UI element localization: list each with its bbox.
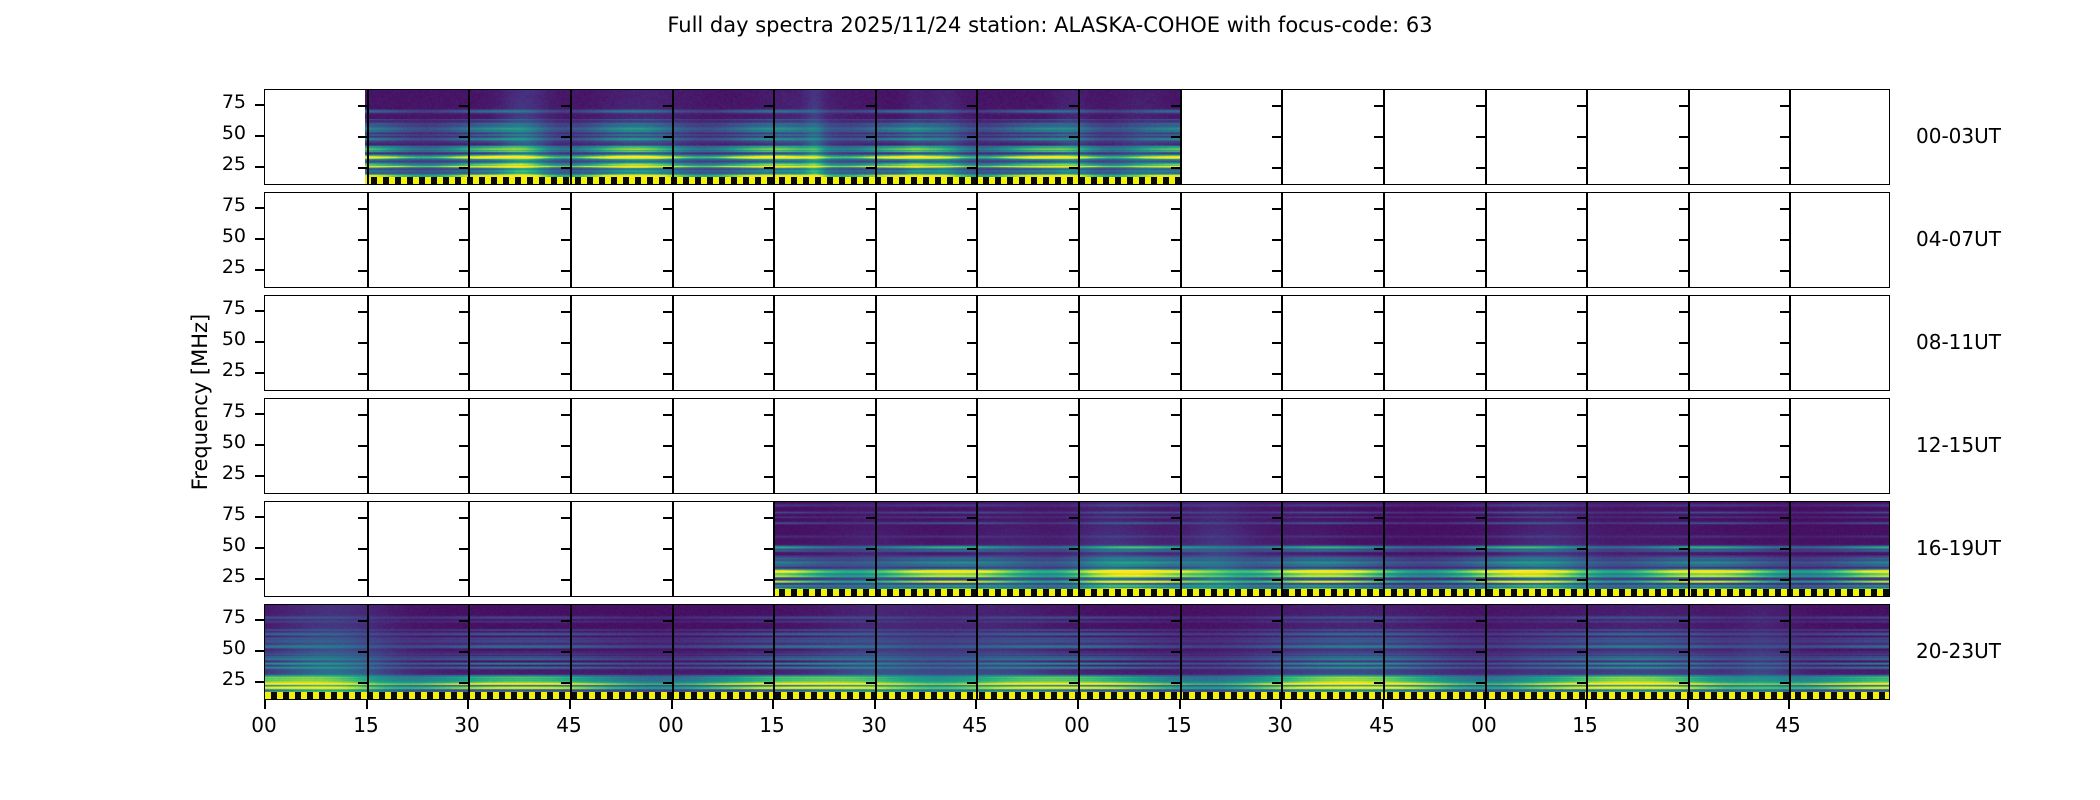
y-tick-mark-inner: [1171, 651, 1180, 653]
panel-separator: [1180, 90, 1182, 184]
spectrogram-row-08-11ut[interactable]: [264, 295, 1890, 391]
y-tick-mark-inner: [866, 682, 875, 684]
y-tick-mark-inner: [459, 105, 468, 107]
panel-separator: [1383, 90, 1385, 184]
figure-title: Full day spectra 2025/11/24 station: ALA…: [0, 13, 2100, 37]
y-tick-mark-inner: [1069, 105, 1078, 107]
y-tick-mark-inner: [1476, 270, 1485, 272]
panel-separator: [1078, 90, 1080, 184]
y-tick-mark-inner: [967, 548, 976, 550]
panel-separator: [1281, 502, 1283, 596]
y-tick-mark-inner: [561, 548, 570, 550]
spectrogram-row-00-03ut[interactable]: [264, 89, 1890, 185]
panel-separator: [1281, 605, 1283, 699]
panel-separator: [875, 502, 877, 596]
y-tick-mark-inner: [1272, 579, 1281, 581]
y-tick-mark-inner: [764, 517, 773, 519]
y-tick-mark-inner: [1780, 342, 1789, 344]
y-tick-mark-inner: [1069, 651, 1078, 653]
y-tick-mark-inner: [663, 476, 672, 478]
coverage-marker: [773, 589, 1890, 596]
y-tick-mark-inner: [663, 311, 672, 313]
y-tick-mark-inner: [764, 208, 773, 210]
y-tick-mark-inner: [1780, 445, 1789, 447]
y-tick-mark-inner: [1272, 476, 1281, 478]
y-tick-mark-inner: [459, 682, 468, 684]
x-tick-mark: [1382, 700, 1384, 709]
y-tick-mark-inner: [1374, 651, 1383, 653]
y-tick-mark-inner: [1272, 445, 1281, 447]
panel-separator: [1281, 399, 1283, 493]
y-tick-mark-inner: [1679, 105, 1688, 107]
row-label-16-19ut: 16-19UT: [1916, 536, 2001, 560]
panel-separator: [1789, 605, 1791, 699]
y-tick-mark-inner: [459, 208, 468, 210]
panel-separator: [1383, 193, 1385, 287]
panel-separator: [1281, 296, 1283, 390]
panel-separator: [1789, 90, 1791, 184]
y-tick-label: 50: [186, 637, 246, 659]
panel-separator: [976, 605, 978, 699]
panel-separator: [570, 399, 572, 493]
y-tick-mark-inner: [459, 579, 468, 581]
y-tick-mark-inner: [358, 136, 367, 138]
y-tick-mark-inner: [561, 476, 570, 478]
y-tick-label: 50: [186, 225, 246, 247]
y-tick-mark-inner: [1780, 476, 1789, 478]
y-tick-mark-inner: [561, 373, 570, 375]
y-tick-mark-inner: [561, 651, 570, 653]
y-tick-mark-inner: [1577, 476, 1586, 478]
y-tick-mark-inner: [1679, 517, 1688, 519]
y-tick-mark-inner: [1577, 445, 1586, 447]
y-tick-mark-inner: [967, 651, 976, 653]
panel-separator: [570, 502, 572, 596]
y-tick-label: 75: [186, 194, 246, 216]
panel-separator: [1078, 605, 1080, 699]
y-tick-mark-inner: [1272, 136, 1281, 138]
panel-separator: [1383, 502, 1385, 596]
panel-separator: [367, 399, 369, 493]
y-tick-mark: [255, 166, 264, 168]
y-tick-mark-inner: [764, 239, 773, 241]
panel-separator: [773, 399, 775, 493]
spectrogram-row-04-07ut[interactable]: [264, 192, 1890, 288]
y-tick-mark-inner: [764, 651, 773, 653]
y-tick-mark-inner: [1476, 651, 1485, 653]
y-tick-mark-inner: [1069, 414, 1078, 416]
y-tick-mark-inner: [358, 620, 367, 622]
y-tick-mark-inner: [1476, 414, 1485, 416]
y-tick-mark-inner: [561, 239, 570, 241]
y-tick-mark-inner: [764, 579, 773, 581]
panel-separator: [367, 296, 369, 390]
y-tick-mark-inner: [1577, 620, 1586, 622]
y-tick-mark-inner: [1171, 476, 1180, 478]
x-tick-mark: [467, 700, 469, 709]
y-tick-mark-inner: [1577, 414, 1586, 416]
panel-separator: [1789, 193, 1791, 287]
y-tick-mark-inner: [1171, 342, 1180, 344]
y-tick-mark-inner: [1069, 342, 1078, 344]
y-tick-mark-inner: [1780, 682, 1789, 684]
y-tick-mark: [255, 475, 264, 477]
panel-separator: [1180, 502, 1182, 596]
y-tick-mark-inner: [1171, 682, 1180, 684]
row-label-12-15ut: 12-15UT: [1916, 433, 2001, 457]
panel-separator: [1789, 399, 1791, 493]
y-tick-mark: [255, 413, 264, 415]
y-tick-mark-inner: [1272, 620, 1281, 622]
y-tick-mark-inner: [663, 239, 672, 241]
y-tick-mark: [255, 135, 264, 137]
y-tick-label: 50: [186, 328, 246, 350]
y-tick-mark-inner: [866, 311, 875, 313]
y-tick-mark-inner: [1679, 270, 1688, 272]
y-tick-mark-inner: [967, 342, 976, 344]
y-tick-mark-inner: [1171, 414, 1180, 416]
x-tick-mark: [1585, 700, 1587, 709]
y-tick-mark-inner: [1780, 651, 1789, 653]
y-tick-mark-inner: [1171, 270, 1180, 272]
y-tick-mark-inner: [967, 270, 976, 272]
panel-separator: [672, 502, 674, 596]
y-tick-mark: [255, 238, 264, 240]
panel-separator: [976, 296, 978, 390]
panel-separator: [468, 296, 470, 390]
y-tick-mark-inner: [967, 476, 976, 478]
panel-separator: [1383, 296, 1385, 390]
y-tick-mark-inner: [866, 105, 875, 107]
y-tick-mark-inner: [1577, 239, 1586, 241]
y-tick-mark-inner: [663, 373, 672, 375]
y-tick-mark-inner: [1679, 682, 1688, 684]
y-tick-mark: [255, 104, 264, 106]
y-tick-mark-inner: [459, 445, 468, 447]
y-tick-mark-inner: [1679, 311, 1688, 313]
y-tick-label: 50: [186, 534, 246, 556]
y-tick-mark-inner: [866, 270, 875, 272]
y-tick-mark-inner: [1069, 517, 1078, 519]
y-tick-label: 25: [186, 462, 246, 484]
y-tick-mark-inner: [764, 414, 773, 416]
y-tick-mark-inner: [1374, 373, 1383, 375]
panel-separator: [1789, 296, 1791, 390]
y-tick-mark-inner: [1476, 136, 1485, 138]
panel-separator: [875, 90, 877, 184]
panel-separator: [875, 605, 877, 699]
y-tick-mark-inner: [1069, 270, 1078, 272]
x-tick-label: 15: [326, 713, 406, 737]
y-tick-mark-inner: [1679, 208, 1688, 210]
y-tick-mark: [255, 547, 264, 549]
y-tick-mark-inner: [459, 239, 468, 241]
y-tick-mark-inner: [967, 105, 976, 107]
y-tick-mark-inner: [1374, 167, 1383, 169]
panel-separator: [1586, 90, 1588, 184]
y-tick-mark-inner: [764, 136, 773, 138]
y-tick-mark-inner: [1577, 682, 1586, 684]
y-tick-mark-inner: [1374, 682, 1383, 684]
y-tick-mark-inner: [1374, 445, 1383, 447]
y-tick-label: 25: [186, 153, 246, 175]
y-tick-mark-inner: [1577, 373, 1586, 375]
y-tick-mark-inner: [967, 208, 976, 210]
panel-separator: [773, 296, 775, 390]
y-tick-mark-inner: [967, 682, 976, 684]
panel-separator: [773, 193, 775, 287]
y-tick-mark-inner: [1476, 579, 1485, 581]
y-tick-mark-inner: [459, 342, 468, 344]
panel-separator: [1281, 193, 1283, 287]
panel-separator: [570, 296, 572, 390]
y-tick-mark-inner: [1780, 136, 1789, 138]
x-tick-label: 45: [1342, 713, 1422, 737]
y-tick-mark-inner: [561, 105, 570, 107]
x-tick-label: 15: [1545, 713, 1625, 737]
x-tick-mark: [1687, 700, 1689, 709]
y-tick-mark-inner: [459, 620, 468, 622]
y-tick-mark-inner: [1780, 239, 1789, 241]
y-tick-mark-inner: [1679, 414, 1688, 416]
panel-separator: [672, 399, 674, 493]
y-tick-mark-inner: [1069, 136, 1078, 138]
panel-separator: [1789, 502, 1791, 596]
y-tick-mark-inner: [358, 311, 367, 313]
y-tick-mark-inner: [866, 445, 875, 447]
y-tick-mark-inner: [1679, 239, 1688, 241]
x-tick-mark: [1280, 700, 1282, 709]
x-tick-mark: [366, 700, 368, 709]
panel-separator: [1078, 193, 1080, 287]
y-tick-mark-inner: [1577, 136, 1586, 138]
y-tick-mark-inner: [561, 579, 570, 581]
y-tick-mark-inner: [459, 373, 468, 375]
y-tick-mark-inner: [561, 136, 570, 138]
y-tick-mark-inner: [663, 579, 672, 581]
panel-separator: [1688, 296, 1690, 390]
y-tick-mark-inner: [1476, 239, 1485, 241]
y-tick-mark: [255, 650, 264, 652]
x-tick-mark: [874, 700, 876, 709]
y-tick-mark-inner: [866, 517, 875, 519]
y-tick-label: 25: [186, 359, 246, 381]
y-tick-mark-inner: [1577, 517, 1586, 519]
y-tick-mark-inner: [1374, 517, 1383, 519]
y-tick-mark-inner: [1069, 208, 1078, 210]
y-tick-mark-inner: [663, 620, 672, 622]
y-tick-mark-inner: [1069, 620, 1078, 622]
panel-separator: [570, 193, 572, 287]
y-tick-mark: [255, 619, 264, 621]
y-tick-mark-inner: [1476, 548, 1485, 550]
y-tick-mark-inner: [1577, 342, 1586, 344]
y-tick-mark-inner: [1476, 445, 1485, 447]
y-tick-mark-inner: [561, 517, 570, 519]
y-tick-mark-inner: [358, 682, 367, 684]
panel-separator: [468, 605, 470, 699]
panel-separator: [1485, 90, 1487, 184]
y-tick-mark-inner: [1374, 414, 1383, 416]
y-tick-label: 50: [186, 122, 246, 144]
y-tick-mark-inner: [1171, 311, 1180, 313]
y-tick-mark-inner: [1374, 136, 1383, 138]
y-tick-mark-inner: [967, 239, 976, 241]
y-tick-mark-inner: [1476, 620, 1485, 622]
y-tick-mark: [255, 310, 264, 312]
y-tick-mark-inner: [459, 517, 468, 519]
x-tick-label: 30: [834, 713, 914, 737]
y-tick-mark-inner: [561, 620, 570, 622]
y-tick-mark-inner: [561, 445, 570, 447]
y-tick-mark-inner: [1374, 620, 1383, 622]
spectrogram-row-20-23ut[interactable]: [264, 604, 1890, 700]
x-tick-label: 00: [1444, 713, 1524, 737]
x-tick-mark: [975, 700, 977, 709]
panel-separator: [875, 193, 877, 287]
y-tick-mark-inner: [1272, 342, 1281, 344]
panel-separator: [976, 502, 978, 596]
y-tick-mark-inner: [1272, 105, 1281, 107]
x-tick-mark: [671, 700, 673, 709]
panel-separator: [1485, 399, 1487, 493]
y-tick-mark-inner: [358, 239, 367, 241]
y-tick-mark-inner: [1577, 270, 1586, 272]
panel-separator: [976, 399, 978, 493]
y-tick-mark-inner: [1374, 342, 1383, 344]
panel-separator: [468, 502, 470, 596]
y-tick-mark-inner: [663, 651, 672, 653]
y-tick-mark-inner: [663, 445, 672, 447]
y-tick-mark-inner: [764, 311, 773, 313]
panel-separator: [1688, 502, 1690, 596]
panel-separator: [367, 605, 369, 699]
x-tick-label: 45: [529, 713, 609, 737]
y-tick-label: 25: [186, 668, 246, 690]
row-label-08-11ut: 08-11UT: [1916, 330, 2001, 354]
y-tick-mark-inner: [1374, 239, 1383, 241]
y-tick-mark-inner: [1374, 311, 1383, 313]
y-tick-mark-inner: [1272, 414, 1281, 416]
y-tick-mark-inner: [967, 373, 976, 375]
panel-separator: [976, 193, 978, 287]
y-tick-mark-inner: [764, 620, 773, 622]
y-tick-mark-inner: [663, 342, 672, 344]
y-tick-mark-inner: [866, 579, 875, 581]
y-tick-mark-inner: [1577, 105, 1586, 107]
panel-separator: [1383, 399, 1385, 493]
panel-separator: [1586, 502, 1588, 596]
y-tick-mark-inner: [1272, 373, 1281, 375]
y-tick-mark-inner: [1577, 579, 1586, 581]
y-tick-mark-inner: [1577, 167, 1586, 169]
y-tick-mark-inner: [1476, 476, 1485, 478]
y-tick-mark-inner: [459, 270, 468, 272]
y-tick-mark-inner: [764, 682, 773, 684]
y-tick-mark-inner: [866, 239, 875, 241]
y-tick-mark-inner: [1272, 208, 1281, 210]
y-tick-mark: [255, 269, 264, 271]
y-tick-mark: [255, 207, 264, 209]
panel-separator: [1688, 605, 1690, 699]
y-tick-mark-inner: [1069, 167, 1078, 169]
y-tick-mark-inner: [764, 105, 773, 107]
y-tick-mark-inner: [663, 136, 672, 138]
y-tick-mark-inner: [1780, 311, 1789, 313]
spectrogram-data-16-19ut: [773, 502, 1890, 596]
y-tick-mark-inner: [561, 342, 570, 344]
panel-separator: [1586, 296, 1588, 390]
y-tick-mark-inner: [1679, 136, 1688, 138]
y-tick-mark-inner: [967, 579, 976, 581]
y-tick-mark-inner: [1780, 548, 1789, 550]
panel-separator: [570, 605, 572, 699]
panel-separator: [1485, 605, 1487, 699]
y-tick-mark-inner: [1679, 445, 1688, 447]
y-tick-mark-inner: [764, 476, 773, 478]
x-tick-mark: [264, 700, 266, 709]
y-tick-mark-inner: [459, 136, 468, 138]
y-tick-mark-inner: [1069, 682, 1078, 684]
y-tick-mark-inner: [1679, 548, 1688, 550]
y-tick-mark-inner: [1476, 682, 1485, 684]
y-tick-mark-inner: [866, 651, 875, 653]
y-tick-mark-inner: [1272, 311, 1281, 313]
y-tick-mark-inner: [1171, 373, 1180, 375]
y-tick-mark-inner: [1679, 342, 1688, 344]
y-tick-mark: [255, 444, 264, 446]
panel-separator: [672, 193, 674, 287]
y-tick-mark-inner: [1476, 373, 1485, 375]
y-tick-mark-inner: [967, 167, 976, 169]
panel-separator: [1078, 296, 1080, 390]
y-tick-mark-inner: [358, 208, 367, 210]
panel-separator: [468, 90, 470, 184]
y-tick-mark-inner: [358, 270, 367, 272]
y-tick-mark-inner: [459, 167, 468, 169]
y-tick-mark-inner: [764, 270, 773, 272]
y-tick-mark-inner: [663, 105, 672, 107]
y-tick-mark-inner: [866, 414, 875, 416]
y-tick-mark-inner: [1374, 270, 1383, 272]
y-tick-mark: [255, 341, 264, 343]
y-tick-mark-inner: [967, 311, 976, 313]
y-tick-mark-inner: [1780, 270, 1789, 272]
y-tick-mark-inner: [1272, 651, 1281, 653]
panel-separator: [367, 502, 369, 596]
y-tick-mark-inner: [459, 476, 468, 478]
spectrogram-row-16-19ut[interactable]: [264, 501, 1890, 597]
panel-separator: [1485, 502, 1487, 596]
y-tick-mark-inner: [1577, 208, 1586, 210]
y-tick-mark-inner: [358, 651, 367, 653]
row-label-20-23ut: 20-23UT: [1916, 639, 2001, 663]
y-tick-mark-inner: [866, 208, 875, 210]
panel-separator: [1281, 90, 1283, 184]
y-tick-mark-inner: [1577, 548, 1586, 550]
y-tick-mark-inner: [1780, 620, 1789, 622]
panel-separator: [875, 296, 877, 390]
y-tick-mark-inner: [1577, 311, 1586, 313]
spectrogram-row-12-15ut[interactable]: [264, 398, 1890, 494]
y-tick-mark-inner: [1171, 105, 1180, 107]
panel-separator: [773, 90, 775, 184]
y-tick-mark-inner: [1780, 373, 1789, 375]
y-tick-mark-inner: [1780, 579, 1789, 581]
y-tick-mark-inner: [866, 620, 875, 622]
x-tick-label: 45: [935, 713, 1015, 737]
y-tick-mark-inner: [1272, 270, 1281, 272]
